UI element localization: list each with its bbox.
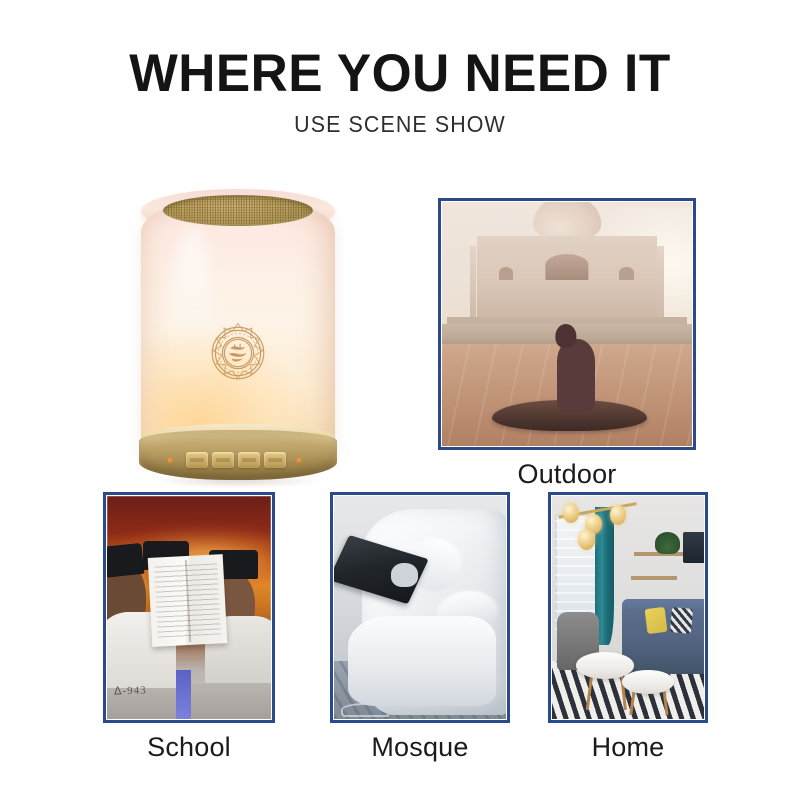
scene-card-school: ⵠ-943 School [103,492,275,763]
home-coffee-table-small [622,670,674,695]
scene-card-outdoor: Outdoor [438,198,696,490]
home-wall-shelf-2 [631,576,677,580]
scene-card-home: Home [548,492,708,763]
page-subtitle: USE SCENE SHOW [28,101,772,138]
home-chandelier-bulb-1 [563,503,580,523]
scene-label-outdoor: Outdoor [438,450,696,490]
speaker-button-4[interactable] [264,452,286,468]
school-open-quran [147,554,227,647]
home-patterned-pillow [670,607,693,633]
outdoor-main-arch [545,254,588,280]
speaker-led-left [168,458,172,462]
scene-photo-mosque [334,496,506,719]
page-title: WHERE YOU NEED IT [12,0,788,101]
mosque-hand [391,563,419,588]
scene-label-mosque: Mosque [330,723,510,763]
speaker-drop-shadow [155,474,321,488]
scene-frame-school: ⵠ-943 [103,492,275,723]
home-wall-tv [683,532,704,563]
school-cap-left [107,543,145,579]
scene-photo-home [552,496,704,719]
home-yellow-pillow [645,606,668,633]
speaker-button-2[interactable] [212,452,234,468]
school-chair-strap [176,670,191,719]
scene-label-school: School [103,723,275,763]
scene-card-mosque: Mosque [330,492,510,763]
scene-label-home: Home [548,723,708,763]
scene-frame-outdoor [438,198,696,450]
mosque-lap [348,616,496,705]
header-block: WHERE YOU NEED IT USE SCENE SHOW [0,0,800,138]
product-image-speaker [133,186,343,486]
home-chandelier-bulb-4 [578,529,595,549]
scene-frame-home [548,492,708,723]
outdoor-minaret-right [657,246,664,324]
speaker-grille [163,195,313,226]
quran-emblem-icon [199,314,277,392]
scene-frame-mosque [330,492,510,723]
outdoor-seated-person [557,339,595,412]
speaker-led-right [297,458,301,462]
outdoor-side-arch-left [499,267,513,280]
outdoor-minaret-left [470,246,477,324]
home-potted-plant [655,532,679,554]
scene-photo-outdoor [442,202,692,446]
school-quran-text-lines [154,563,221,638]
outdoor-side-arch-right [619,267,633,280]
speaker-button-3[interactable] [238,452,260,468]
outdoor-person-head [555,324,576,348]
school-desk-marking: ⵠ-943 [113,683,146,697]
speaker-button-1[interactable] [186,452,208,468]
outdoor-mausoleum [477,236,657,324]
scene-photo-school: ⵠ-943 [107,496,271,719]
